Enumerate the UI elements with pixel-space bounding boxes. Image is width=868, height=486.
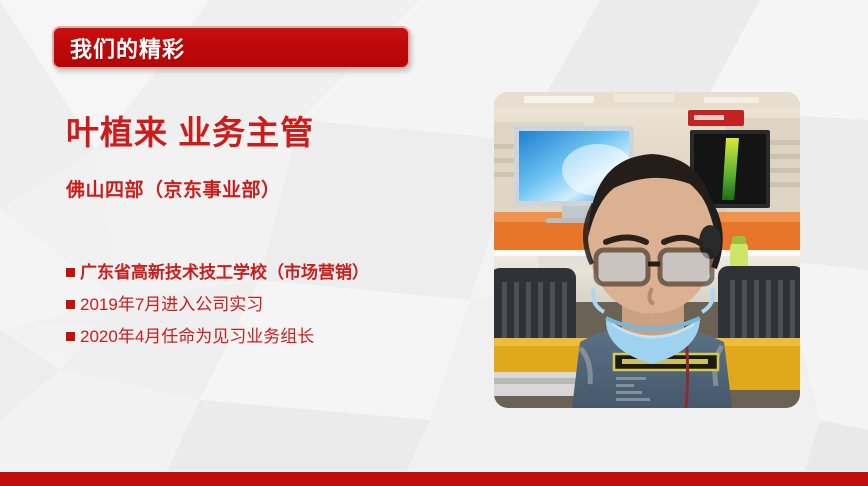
footer-accent-bar: [0, 472, 868, 486]
list-item: 2020年4月任命为见习业务组长: [66, 328, 476, 345]
list-item: 广东省高新技术技工学校（市场营销）: [66, 264, 476, 281]
square-bullet-icon: [66, 268, 75, 277]
person-name: 叶植来 业务主管: [66, 112, 476, 153]
section-banner-label: 我们的精彩: [54, 32, 185, 64]
square-bullet-icon: [66, 300, 75, 309]
list-item-label: 2020年4月任命为见习业务组长: [80, 328, 314, 345]
list-item: 2019年7月进入公司实习: [66, 296, 476, 313]
employee-workstation-photo-illustration: [494, 92, 800, 408]
employee-photo: [494, 92, 800, 408]
square-bullet-icon: [66, 332, 75, 341]
person-department: 佛山四部（京东事业部）: [66, 175, 476, 202]
profile-bullet-list: 广东省高新技术技工学校（市场营销） 2019年7月进入公司实习 2020年4月任…: [66, 264, 476, 345]
list-item-label: 2019年7月进入公司实习: [80, 296, 263, 313]
profile-text-column: 叶植来 业务主管 佛山四部（京东事业部） 广东省高新技术技工学校（市场营销） 2…: [66, 112, 476, 360]
section-banner: 我们的精彩: [52, 26, 410, 69]
list-item-label: 广东省高新技术技工学校（市场营销）: [80, 264, 369, 281]
slide-canvas: 我们的精彩 叶植来 业务主管 佛山四部（京东事业部） 广东省高新技术技工学校（市…: [0, 0, 868, 486]
